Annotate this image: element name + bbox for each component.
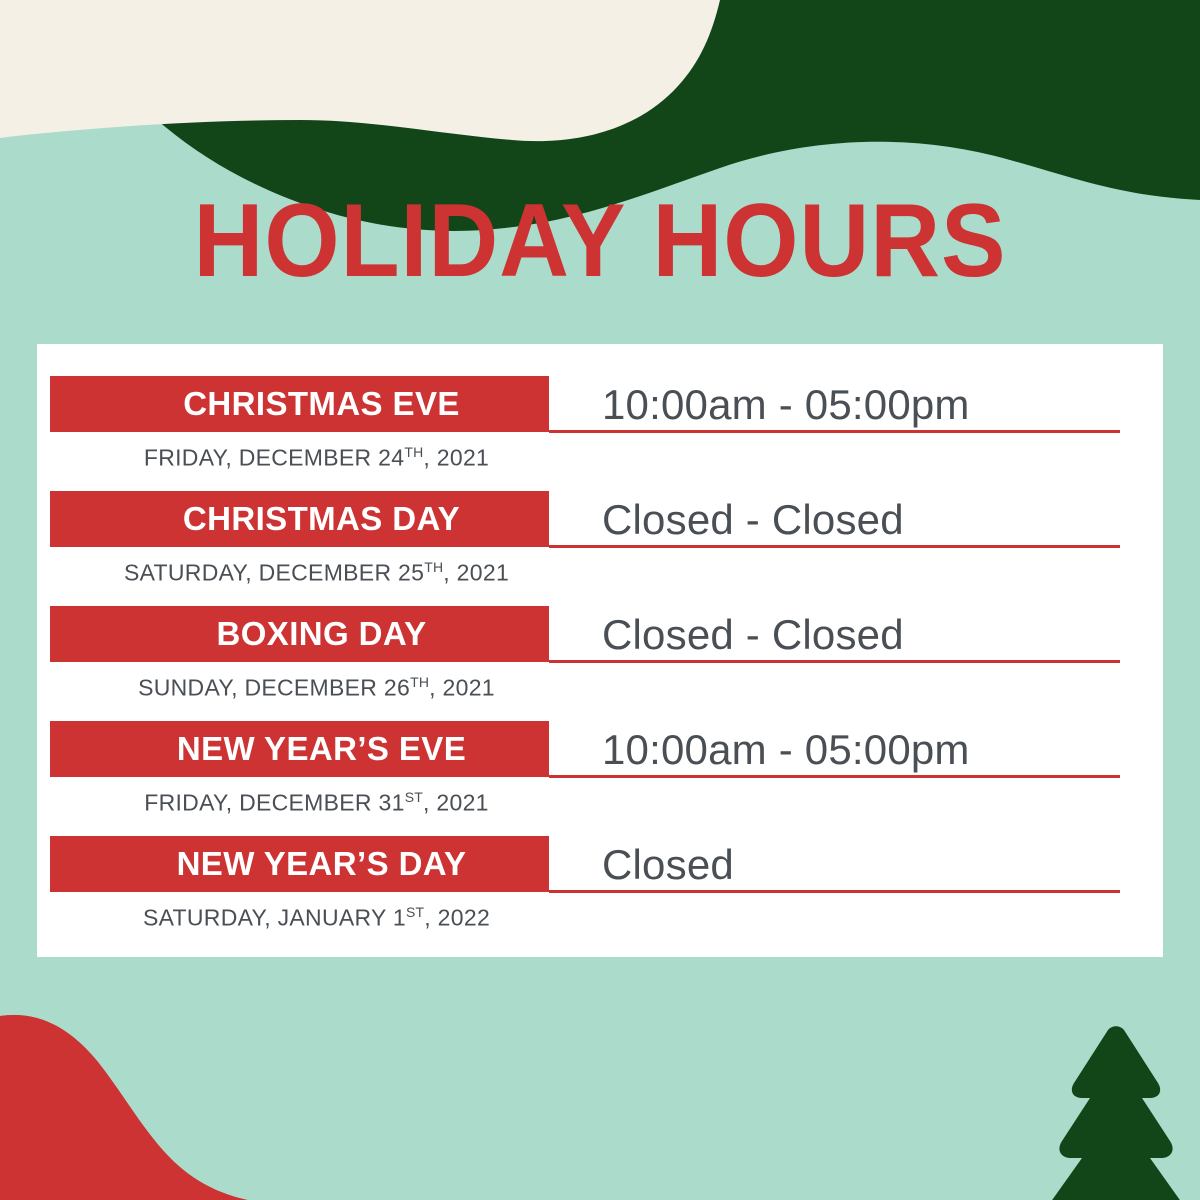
- holiday-name-label: CHRISTMAS DAY: [50, 502, 549, 536]
- date-ordinal: TH: [424, 559, 443, 575]
- holiday-name-label: NEW YEAR’S EVE: [50, 732, 549, 766]
- holiday-date: SUNDAY, DECEMBER 26TH, 2021: [50, 668, 549, 702]
- date-ordinal: ST: [406, 904, 424, 920]
- date-prefix: SUNDAY, DECEMBER 26: [138, 675, 410, 701]
- date-ordinal: ST: [405, 789, 423, 805]
- holiday-name-band: NEW YEAR’S DAY: [50, 836, 549, 892]
- date-ordinal: TH: [410, 674, 429, 690]
- schedule-row: CHRISTMAS EVE 10:00am - 05:00pm FRIDAY, …: [37, 376, 1163, 491]
- red-wave-shape-lower: [0, 1015, 762, 1200]
- date-prefix: SATURDAY, JANUARY 1: [143, 905, 406, 931]
- date-prefix: FRIDAY, DECEMBER 24: [144, 445, 404, 471]
- schedule-row: CHRISTMAS DAY Closed - Closed SATURDAY, …: [37, 491, 1163, 606]
- holiday-date: FRIDAY, DECEMBER 24TH, 2021: [50, 438, 549, 472]
- holiday-name-band: NEW YEAR’S EVE: [50, 721, 549, 777]
- date-suffix: , 2021: [423, 445, 489, 471]
- row-underline: [549, 660, 1120, 663]
- holiday-name-label: BOXING DAY: [50, 617, 549, 651]
- date-suffix: , 2021: [429, 675, 495, 701]
- date-suffix: , 2021: [443, 560, 509, 586]
- date-suffix: , 2022: [424, 905, 490, 931]
- date-suffix: , 2021: [423, 790, 489, 816]
- hours-value: 10:00am - 05:00pm: [602, 725, 970, 775]
- cream-blob-shape: [0, 0, 720, 141]
- row-underline: [549, 545, 1120, 548]
- schedule-row: NEW YEAR’S DAY Closed SATURDAY, JANUARY …: [37, 836, 1163, 951]
- schedule-row: BOXING DAY Closed - Closed SUNDAY, DECEM…: [37, 606, 1163, 721]
- date-prefix: FRIDAY, DECEMBER 31: [144, 790, 404, 816]
- hours-value: Closed - Closed: [602, 495, 904, 545]
- holiday-date: FRIDAY, DECEMBER 31ST, 2021: [50, 783, 549, 817]
- christmas-tree-icon: [1047, 1026, 1184, 1200]
- holiday-date: SATURDAY, DECEMBER 25TH, 2021: [50, 553, 549, 587]
- holiday-name-band: CHRISTMAS EVE: [50, 376, 549, 432]
- holiday-name-band: CHRISTMAS DAY: [50, 491, 549, 547]
- date-ordinal: TH: [404, 444, 423, 460]
- holiday-name-label: CHRISTMAS EVE: [50, 387, 549, 421]
- row-underline: [549, 775, 1120, 778]
- schedule-row: NEW YEAR’S EVE 10:00am - 05:00pm FRIDAY,…: [37, 721, 1163, 836]
- holiday-name-label: NEW YEAR’S DAY: [50, 847, 549, 881]
- schedule-card: CHRISTMAS EVE 10:00am - 05:00pm FRIDAY, …: [37, 344, 1163, 957]
- holiday-date: SATURDAY, JANUARY 1ST, 2022: [50, 898, 549, 932]
- hours-value: Closed: [602, 840, 734, 890]
- holiday-hours-poster: HOLIDAY HOURS CHRISTMAS EVE 10:00am - 05…: [0, 0, 1200, 1200]
- date-prefix: SATURDAY, DECEMBER 25: [124, 560, 424, 586]
- hours-value: 10:00am - 05:00pm: [602, 380, 970, 430]
- row-underline: [549, 890, 1120, 893]
- holiday-name-band: BOXING DAY: [50, 606, 549, 662]
- page-title: HOLIDAY HOURS: [42, 186, 1158, 296]
- row-underline: [549, 430, 1120, 433]
- hours-value: Closed - Closed: [602, 610, 904, 660]
